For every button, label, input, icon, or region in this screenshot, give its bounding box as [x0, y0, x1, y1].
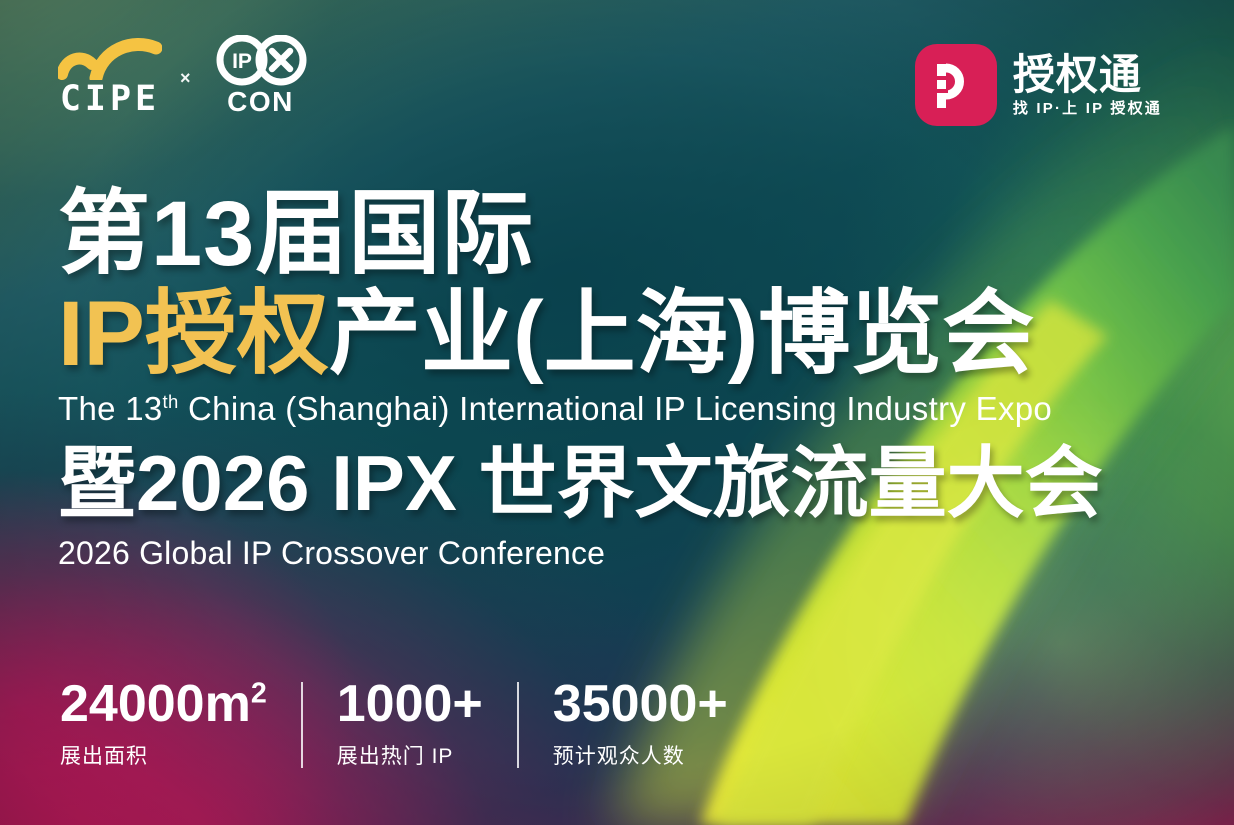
- stat-value: 24000m2: [60, 678, 267, 730]
- sponsor-name: 授权通: [1013, 54, 1162, 96]
- subtitle-english-1-pre: The 13: [58, 390, 163, 427]
- title-line-3: 暨2026 IPX 世界文旅流量大会: [58, 441, 1194, 525]
- subtitle-english-1-post: China (Shanghai) International IP Licens…: [179, 390, 1052, 427]
- stat-label: 预计观众人数: [553, 746, 728, 767]
- ipxcon-logo[interactable]: IP CON: [209, 35, 313, 116]
- stat-item-area: 24000m2 展出面积: [60, 678, 267, 768]
- stat-label: 展出热门 IP: [337, 746, 483, 767]
- stat-value-main: 35000+: [553, 675, 728, 733]
- stat-divider: [517, 682, 519, 768]
- stat-label: 展出面积: [60, 746, 267, 767]
- subtitle-english-2: 2026 Global IP Crossover Conference: [58, 536, 1194, 571]
- cipe-wordmark: CIPE: [60, 82, 160, 117]
- shouquantong-p-logo-icon: [915, 44, 997, 126]
- cross-multiply-icon: ×: [180, 68, 191, 89]
- subtitle-english-1-ordinal: th: [163, 391, 179, 412]
- title-line-2-plain: 产业(上海)博览会: [329, 283, 1034, 385]
- cipe-bird-wings-icon: [58, 34, 162, 80]
- event-banner: CIPE × IP CON: [0, 0, 1234, 825]
- sponsor-logo-group[interactable]: 授权通 找 IP·上 IP 授权通: [915, 44, 1162, 126]
- stat-item-visitors: 35000+ 预计观众人数: [553, 678, 728, 768]
- banner-content: CIPE × IP CON: [0, 0, 1234, 825]
- p-mark-icon: [931, 58, 981, 112]
- stat-value-main: 1000+: [337, 675, 483, 733]
- svg-text:IP: IP: [232, 50, 252, 73]
- subtitle-english-1: The 13th China (Shanghai) International …: [58, 391, 1194, 427]
- stat-divider: [301, 682, 303, 768]
- stat-item-ip-count: 1000+ 展出热门 IP: [337, 678, 483, 768]
- stat-value: 1000+: [337, 678, 483, 730]
- stat-value-superscript: 2: [251, 678, 267, 710]
- stat-value: 35000+: [553, 678, 728, 730]
- sponsor-text-block: 授权通 找 IP·上 IP 授权通: [1013, 54, 1162, 116]
- stat-value-main: 24000m: [60, 675, 251, 733]
- stats-row: 24000m2 展出面积 1000+ 展出热门 IP 35000+ 预计观众人数: [60, 678, 728, 768]
- title-block: 第13届国际 IP授权产业(上海)博览会 The 13th China (Sha…: [58, 186, 1194, 571]
- title-line-2-accent: IP授权: [58, 283, 329, 385]
- ipx-infinity-circles-icon: IP: [209, 35, 313, 87]
- title-line-2: IP授权产业(上海)博览会: [58, 286, 1194, 384]
- ipxcon-wordmark: CON: [227, 88, 294, 116]
- cipe-logo[interactable]: CIPE: [58, 34, 162, 117]
- title-line-1: 第13届国际: [58, 186, 1194, 284]
- organizer-logo-group: CIPE × IP CON: [58, 34, 313, 117]
- sponsor-tagline: 找 IP·上 IP 授权通: [1013, 101, 1162, 116]
